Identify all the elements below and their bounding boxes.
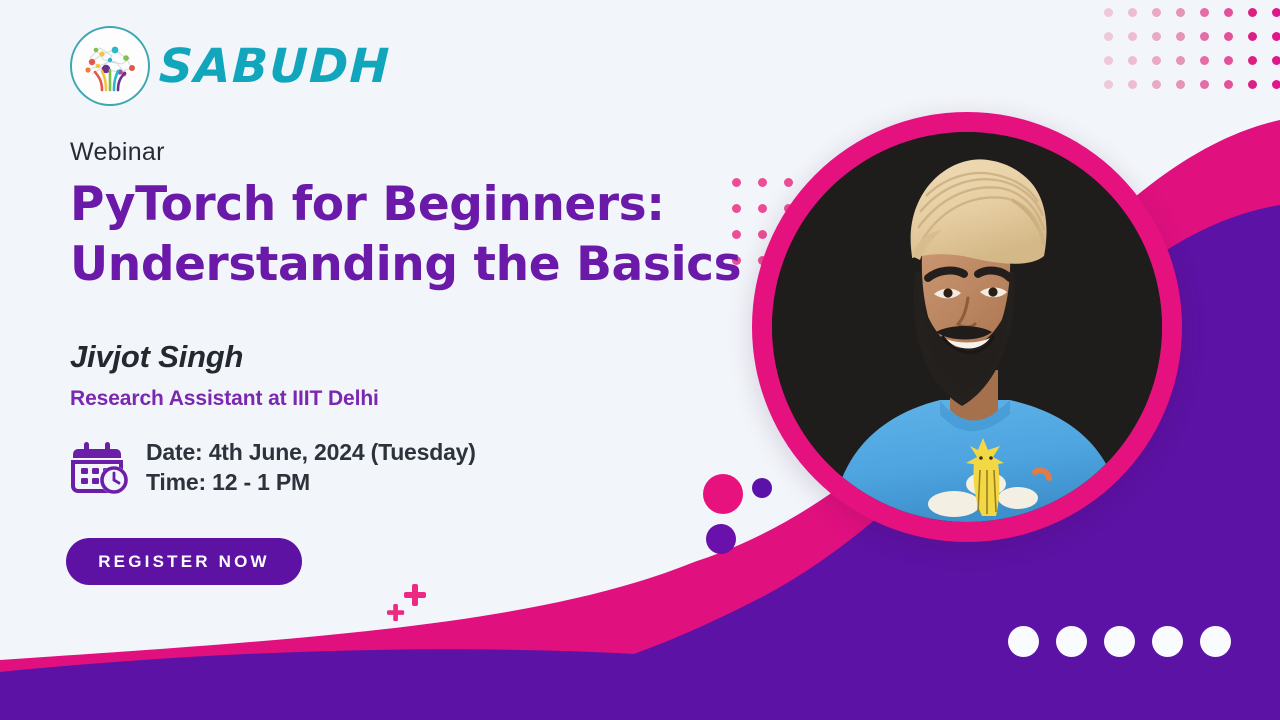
decor-dot-white [1056, 626, 1087, 657]
schedule-block: Date: 4th June, 2024 (Tuesday) Time: 12 … [70, 436, 476, 498]
decor-dot [784, 178, 793, 187]
white-dots-row [1008, 626, 1231, 657]
decor-dot [1272, 32, 1280, 41]
decor-dot [1176, 56, 1185, 65]
decor-dot-white [1200, 626, 1231, 657]
network-tree-logo-icon [70, 26, 150, 106]
decor-dot-white [1008, 626, 1039, 657]
decor-dot [1128, 80, 1137, 89]
decor-dot [1176, 32, 1185, 41]
time-line: Time: 12 - 1 PM [146, 467, 476, 497]
speaker-photo-frame [752, 112, 1182, 542]
decor-dot [1200, 56, 1209, 65]
decor-dot [1200, 8, 1209, 17]
brand-wordmark: SABUDH [158, 43, 391, 90]
decor-dot [1104, 8, 1113, 17]
decor-dot [1104, 32, 1113, 41]
purple-circle-small [752, 478, 772, 498]
decor-dot [1200, 80, 1209, 89]
page-title: PyTorch for Beginners: Understanding the… [70, 175, 770, 295]
pink-circle-large [703, 474, 743, 514]
decor-dot [1248, 32, 1257, 41]
decor-dot [1272, 80, 1280, 89]
decor-dot [1248, 80, 1257, 89]
webinar-banner: SABUDH Webinar PyTorch for Beginners: Un… [0, 0, 1280, 720]
eyebrow-label: Webinar [70, 138, 770, 167]
title-line-2: Understanding the Basics [70, 235, 770, 295]
decor-dot [1176, 8, 1185, 17]
decor-dot [1224, 80, 1233, 89]
calendar-clock-icon [70, 436, 132, 498]
decor-dot [1224, 32, 1233, 41]
decor-dot [1272, 56, 1280, 65]
purple-circle-medium [706, 524, 736, 554]
speaker-portrait-illustration [772, 132, 1162, 522]
speaker-role: Research Assistant at IIIT Delhi [70, 387, 770, 411]
decor-dot [1104, 56, 1113, 65]
speaker-name: Jivjot Singh [70, 339, 770, 375]
brand-logo[interactable]: SABUDH [70, 26, 391, 106]
decor-dot [1128, 32, 1137, 41]
decor-dot [1152, 32, 1161, 41]
plus-mark-icon [387, 604, 404, 621]
decor-dot [1128, 8, 1137, 17]
decor-dot-white [1104, 626, 1135, 657]
decor-dot [1248, 8, 1257, 17]
decor-dot [1224, 8, 1233, 17]
decor-dot [1248, 56, 1257, 65]
decor-dot [1104, 80, 1113, 89]
decor-dot [1152, 8, 1161, 17]
date-line: Date: 4th June, 2024 (Tuesday) [146, 437, 476, 467]
decor-dot [1176, 80, 1185, 89]
speaker-photo [772, 132, 1162, 522]
decor-dot-white [1152, 626, 1183, 657]
decor-dot [1152, 80, 1161, 89]
schedule-text: Date: 4th June, 2024 (Tuesday) Time: 12 … [146, 437, 476, 498]
pink-dot-grid-topright [1104, 8, 1280, 104]
headline-block: Webinar PyTorch for Beginners: Understan… [70, 138, 770, 411]
decor-dot [1200, 32, 1209, 41]
decor-dot [1272, 8, 1280, 17]
decor-dot [1152, 56, 1161, 65]
register-now-button[interactable]: REGISTER NOW [66, 538, 302, 585]
title-line-1: PyTorch for Beginners: [70, 175, 770, 235]
decor-dot [1224, 56, 1233, 65]
plus-mark-icon [404, 584, 426, 606]
decor-dot [1128, 56, 1137, 65]
